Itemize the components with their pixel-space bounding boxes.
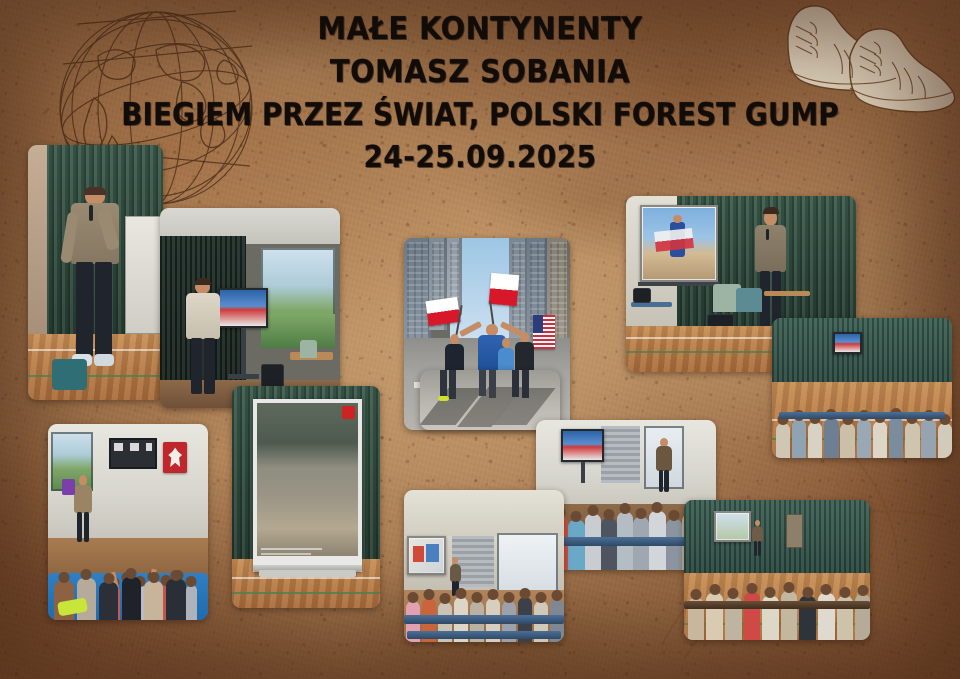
poster-canvas: MAŁE KONTYNENTY TOMASZ SOBANIA BIEGIEM P… [0, 0, 960, 679]
photo-orlen-rollup-banner-in-gym[interactable] [232, 386, 380, 608]
title-line-3: BIEGIEM PRZEZ ŚWIAT, POLSKI FOREST GUMP [48, 100, 912, 131]
photo-students-seated-on-gym-floor-right[interactable] [772, 318, 952, 458]
photo-speaker-in-hall-with-monitor[interactable] [160, 208, 340, 408]
title-line-1: MAŁE KONTYNENTY [34, 14, 927, 45]
photo-classroom-audience-raised-hands[interactable] [48, 424, 208, 620]
title-line-4-date: 24-25.09.2025 [34, 143, 927, 173]
orlen-logo-icon [342, 406, 355, 419]
title-line-2: TOMASZ SOBANIA [34, 57, 927, 88]
photo-girls-on-benches-watching-screen[interactable] [684, 500, 870, 640]
poster-title-block: MAŁE KONTYNENTY TOMASZ SOBANIA BIEGIEM P… [0, 14, 960, 185]
photo-students-on-benches-facing-screen[interactable] [404, 490, 564, 642]
